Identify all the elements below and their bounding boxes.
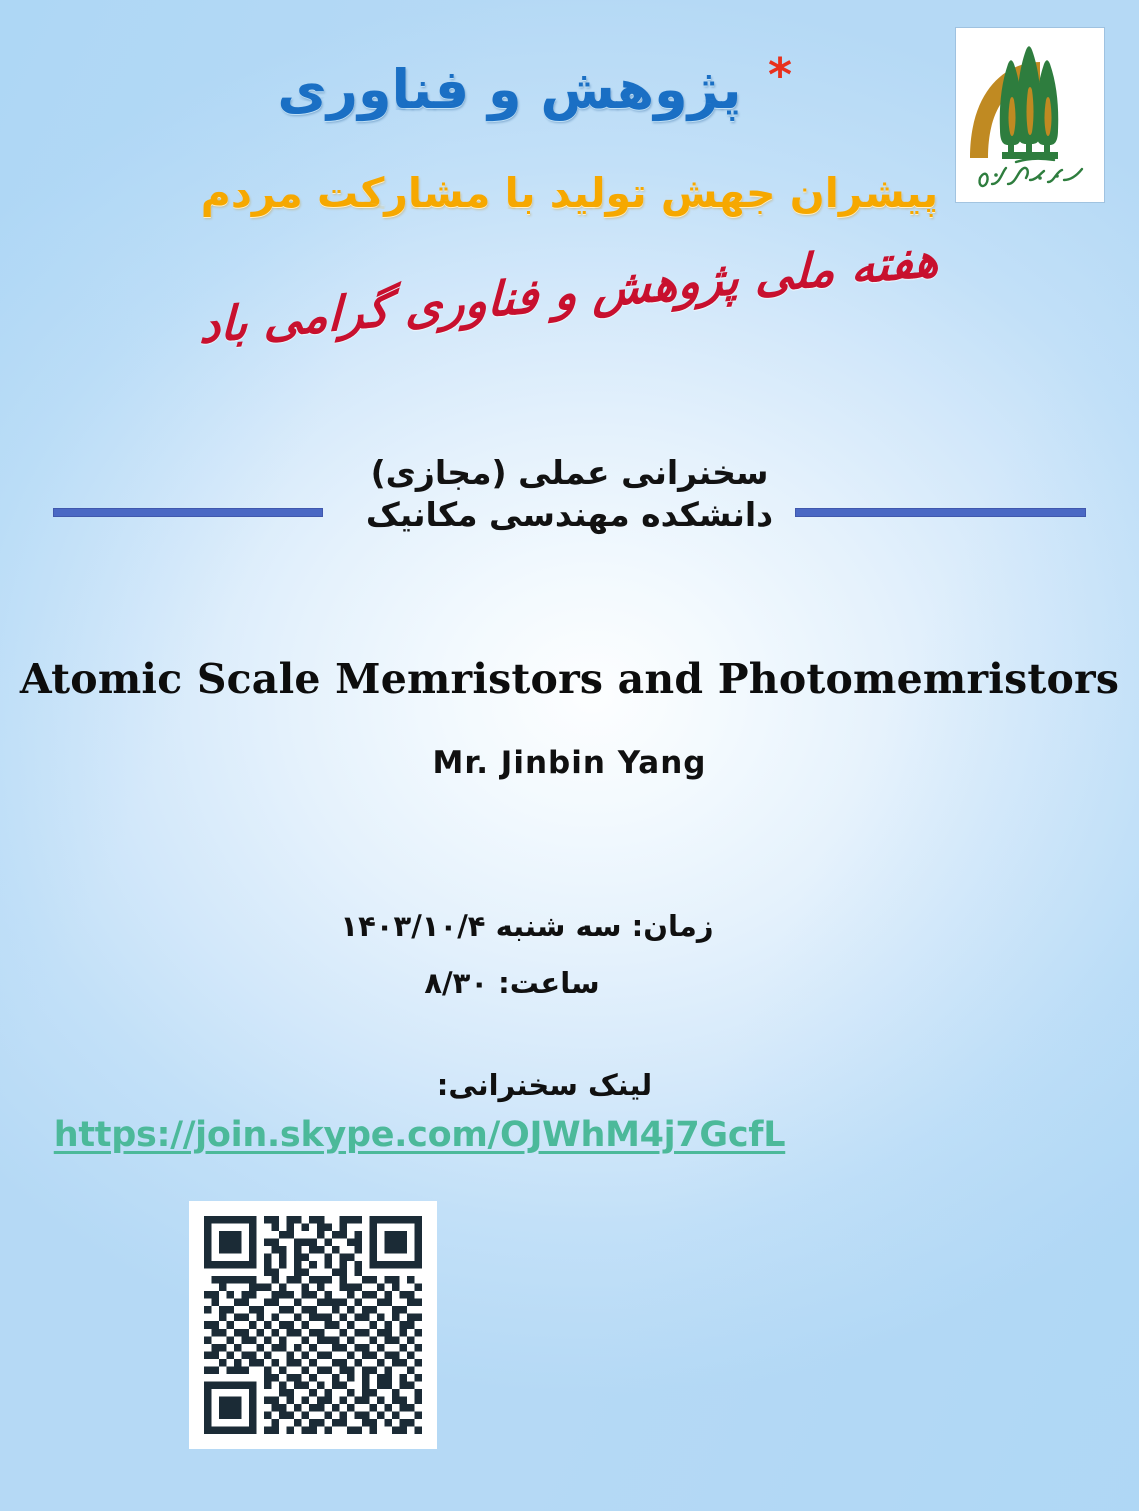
headline-research-technology-reflection: پژوهش و فناوری [0, 82, 1139, 113]
link-label-text: لینک سخنرانی: [437, 1068, 702, 1102]
qr-code-canvas[interactable] [204, 1216, 422, 1434]
greeting-banner: هفته ملی پژوهش و فناوری گرامی باد [0, 268, 1139, 320]
asterisk-icon: * [768, 52, 792, 98]
talk-title: Atomic Scale Memristors and Photomemrist… [0, 655, 1139, 703]
lecture-faculty: دانشکده مهندسی مکانیک [0, 494, 1139, 536]
lecture-type: سخنرانی عملی (مجازی) [0, 452, 1139, 494]
lecture-info: سخنرانی عملی (مجازی) دانشکده مهندسی مکان… [0, 452, 1139, 536]
qr-code[interactable] [189, 1201, 437, 1449]
schedule-block: زمان: سه شنبه ۱۴۰۳/۱۰/۴ ساعت: ۸/۳۰ [0, 898, 1139, 1011]
seminar-poster: پژوهش و فناوری پژوهش و فناوری * پیشران ج… [0, 0, 1139, 1511]
meeting-link[interactable]: https://join.skype.com/OJWhM4j7GcfL [0, 1115, 1139, 1155]
link-label: لینک سخنرانی: [0, 1068, 1139, 1102]
speaker-name: Mr. Jinbin Yang [0, 745, 1139, 781]
headline-research-technology: پژوهش و فناوری پژوهش و فناوری [0, 62, 1139, 169]
meeting-link-anchor[interactable]: https://join.skype.com/OJWhM4j7GcfL [54, 1115, 785, 1155]
schedule-time: ساعت: ۸/۳۰ [0, 955, 1139, 1012]
schedule-date: زمان: سه شنبه ۱۴۰۳/۱۰/۴ [0, 898, 1139, 955]
headline-slogan-reflection: پیشران جهش تولید با مشارکت مردم [0, 187, 1139, 211]
